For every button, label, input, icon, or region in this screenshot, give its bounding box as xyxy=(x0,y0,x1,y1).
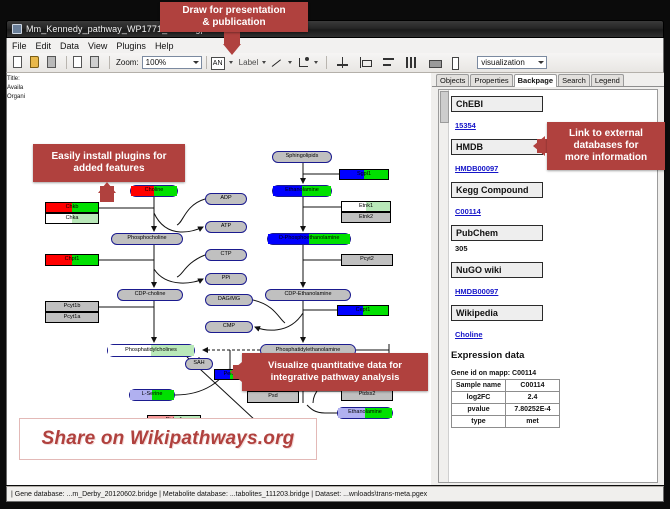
gene-label: Pcyt2 xyxy=(360,257,374,263)
open-folder-icon[interactable] xyxy=(28,55,43,70)
metabolite-node-ppi[interactable]: PPi xyxy=(205,273,247,285)
metabolite-label: Ethanolamine xyxy=(285,188,319,194)
gene-label: Pcyt1b xyxy=(64,304,81,310)
toolbar-separator xyxy=(206,56,207,69)
zoom-label: Zoom: xyxy=(116,58,139,67)
zoom-value: 100% xyxy=(146,58,166,67)
menu-item-data[interactable]: Data xyxy=(60,41,79,51)
gene-label: Chpt1 xyxy=(65,257,80,263)
metabolite-node-l-serine[interactable]: L-Serine xyxy=(129,389,175,401)
db-header-chebi: ChEBI xyxy=(451,96,543,112)
gene-node-pcyt1a[interactable]: Pcyt1a xyxy=(45,312,99,323)
tab-legend[interactable]: Legend xyxy=(591,74,624,86)
menu-item-file[interactable]: File xyxy=(12,41,27,51)
metabolite-node-cmp[interactable]: CMP xyxy=(205,321,253,333)
menu-item-help[interactable]: Help xyxy=(155,41,174,51)
label-tool-label: Label xyxy=(239,58,259,67)
callout-plugins-text: Easily install plugins for added feature… xyxy=(51,151,166,175)
connector-tool-icon[interactable] xyxy=(296,55,311,70)
gene-node-pcyt2[interactable]: Pcyt2 xyxy=(341,254,393,266)
metabolite-node-sah[interactable]: SAH xyxy=(185,358,213,370)
metabolite-label: PPi xyxy=(222,276,231,282)
metabolite-label: O-Phosphoethanolamine xyxy=(279,236,340,242)
export-icon[interactable] xyxy=(450,55,465,70)
db-header-kegg: Kegg Compound xyxy=(451,182,543,198)
expression-row-value: 7.80252E-4 xyxy=(506,404,560,416)
menu-item-edit[interactable]: Edit xyxy=(36,41,52,51)
gene-node-chpt1[interactable]: Chpt1 xyxy=(45,254,99,266)
callout-share-text: Share on Wikipathways.org xyxy=(42,428,295,450)
side-panel-tabs: Objects Properties Backpage Search Legen… xyxy=(432,73,664,87)
gene-label: Sgpl1 xyxy=(357,172,371,178)
gene-node-chka[interactable]: Chka xyxy=(45,213,99,224)
metabolite-label: CMP xyxy=(223,324,235,330)
chevron-down-icon xyxy=(538,61,544,64)
expression-row-value: 2.4 xyxy=(506,392,560,404)
db-header-wikipedia: Wikipedia xyxy=(451,305,543,321)
chevron-down-icon[interactable] xyxy=(314,61,318,64)
metabolite-node-o-phosphoethanolamine[interactable]: O-Phosphoethanolamine xyxy=(267,233,351,245)
db-link-hmdb[interactable]: HMDB00097 xyxy=(455,164,498,173)
expression-row-label: log2FC xyxy=(452,392,506,404)
expression-table-row: Sample nameC00114 xyxy=(452,380,560,392)
menu-item-plugins[interactable]: Plugins xyxy=(116,41,146,51)
paste-icon[interactable] xyxy=(88,55,103,70)
metabolite-label: DAG/MG xyxy=(218,297,240,303)
tab-objects[interactable]: Objects xyxy=(436,74,469,86)
metabolite-label: Phosphocholine xyxy=(127,236,166,242)
metabolite-node-cdp-ethanolamine[interactable]: CDP-Ethanolamine xyxy=(265,289,351,301)
gene-id-on-mapp: Gene id on mapp: C00114 xyxy=(451,370,653,377)
backpage-scrollbar[interactable] xyxy=(439,90,449,482)
callout-draw-stem xyxy=(224,31,240,45)
zoom-combo[interactable]: 100% xyxy=(142,56,202,69)
metabolite-node-phosphatidylcholines[interactable]: Phosphatidylcholines xyxy=(107,344,195,357)
menu-bar: File Edit Data View Plugins Help xyxy=(6,38,664,53)
gene-node-etnk1[interactable]: Etnk1 xyxy=(341,201,391,212)
print-icon[interactable] xyxy=(427,55,442,70)
toolbar-separator xyxy=(326,56,327,69)
pathvisio-app-icon xyxy=(12,24,22,34)
callout-links: Link to external databases for more info… xyxy=(547,122,665,170)
toolbar-separator xyxy=(109,56,110,69)
metabolite-label: L-Serine xyxy=(142,392,163,398)
tab-backpage[interactable]: Backpage xyxy=(514,74,557,87)
expression-row-label: type xyxy=(452,416,506,428)
metabolite-node-ethanolamine[interactable]: Ethanolamine xyxy=(337,407,393,419)
chevron-down-icon[interactable] xyxy=(229,61,233,64)
gene-node-cept1[interactable]: Cept1 xyxy=(337,305,389,316)
db-header-hmdb: HMDB xyxy=(451,139,543,155)
visualization-combo[interactable]: visualization xyxy=(477,56,547,69)
metabolite-node-ethanolamine[interactable]: Ethanolamine xyxy=(272,185,332,197)
callout-links-text: Link to external databases for more info… xyxy=(565,128,647,165)
metabolite-node-phosphocholine[interactable]: Phosphocholine xyxy=(111,233,183,245)
db-link-kegg[interactable]: C00114 xyxy=(455,207,481,216)
gene-node-psd[interactable]: Psd xyxy=(247,391,299,403)
db-value-pubchem: 305 xyxy=(455,244,653,253)
expression-row-value: met xyxy=(506,416,560,428)
expression-row-label: Sample name xyxy=(452,380,506,392)
gene-node-chkb[interactable]: Chkb xyxy=(45,202,99,213)
gene-node-pcyt1b[interactable]: Pcyt1b xyxy=(45,301,99,312)
metabolite-node-choline[interactable]: Choline xyxy=(130,185,178,197)
callout-draw-pointer xyxy=(223,44,241,55)
expression-data-title: Expression data xyxy=(451,350,653,361)
gene-label: Etnk1 xyxy=(359,204,373,210)
application-window: Mm_Kennedy_pathway_WP1771_45176.gpml Fil… xyxy=(0,0,670,509)
db-link-nugo[interactable]: HMDB00097 xyxy=(455,287,498,296)
db-link-wikipedia[interactable]: Choline xyxy=(455,330,483,339)
align-left-icon[interactable] xyxy=(358,55,373,70)
chevron-down-icon[interactable] xyxy=(262,61,266,64)
gene-label: Cept1 xyxy=(356,308,371,314)
chevron-down-icon xyxy=(193,61,199,64)
metabolite-label: Phosphatidylcholines xyxy=(125,348,177,354)
metabolite-label: CDP-Ethanolamine xyxy=(284,292,331,298)
metabolite-label: CDP-choline xyxy=(135,292,166,298)
metabolite-node-ctp[interactable]: CTP xyxy=(205,249,247,261)
metabolite-label: SAH xyxy=(193,361,204,367)
tab-properties[interactable]: Properties xyxy=(470,74,512,86)
metabolite-node-sphingolipids[interactable]: Sphingolipids xyxy=(272,151,332,163)
metabolite-node-dag-mg[interactable]: DAG/MG xyxy=(205,294,253,306)
gene-label: Ptdss2 xyxy=(359,392,376,398)
expression-row-value: C00114 xyxy=(506,380,560,392)
metabolite-label: Ethanolamine xyxy=(348,410,382,416)
callout-visualize: Visualize quantitative data for integrat… xyxy=(242,353,428,391)
text-label-icon[interactable]: AN xyxy=(211,55,226,70)
window-title-bar: Mm_Kennedy_pathway_WP1771_45176.gpml xyxy=(6,20,664,38)
metabolite-label: ADP xyxy=(220,196,231,202)
expression-row-label: pvalue xyxy=(452,404,506,416)
toolbar-separator xyxy=(66,56,67,69)
anchor-icon[interactable] xyxy=(335,55,350,70)
chevron-down-icon[interactable] xyxy=(288,61,292,64)
db-link-chebi[interactable]: 15354 xyxy=(455,121,476,130)
gene-label: Chkb xyxy=(66,205,79,211)
gene-label: Psd xyxy=(268,394,277,400)
callout-visualize-text: Visualize quantitative data for integrat… xyxy=(268,360,402,383)
main-toolbar: Zoom: 100% AN Label visualization xyxy=(6,53,664,73)
metabolite-label: Sphingolipids xyxy=(286,154,319,160)
gene-node-sgpl1[interactable]: Sgpl1 xyxy=(339,169,389,180)
callout-plugins: Easily install plugins for added feature… xyxy=(33,144,185,182)
gene-node-etnk2[interactable]: Etnk2 xyxy=(341,212,391,223)
status-bar: | Gene database: ...m_Derby_20120602.bri… xyxy=(6,486,664,502)
line-tool-icon[interactable] xyxy=(270,55,285,70)
gene-label: Pcyt1a xyxy=(64,315,81,321)
metabolite-node-adp[interactable]: ADP xyxy=(205,193,247,205)
expression-table-row: log2FC2.4 xyxy=(452,392,560,404)
callout-share: Share on Wikipathways.org xyxy=(19,418,317,460)
status-bar-text: | Gene database: ...m_Derby_20120602.bri… xyxy=(11,491,427,498)
save-icon[interactable] xyxy=(45,55,60,70)
pathway-canvas[interactable]: Title: Availa Organi xyxy=(7,73,431,485)
visualization-value: visualization xyxy=(481,58,525,67)
metabolite-label: CTP xyxy=(221,252,232,258)
distribute-columns-icon[interactable] xyxy=(404,55,419,70)
metabolite-node-cdp-choline[interactable]: CDP-choline xyxy=(117,289,183,301)
metabolite-node-atp[interactable]: ATP xyxy=(205,221,247,233)
callout-draw-text: Draw for presentation & publication xyxy=(182,5,285,29)
new-file-icon[interactable] xyxy=(11,55,26,70)
metabolite-label: Choline xyxy=(145,188,164,194)
menu-item-view[interactable]: View xyxy=(88,41,107,51)
expression-table-row: typemet xyxy=(452,416,560,428)
expression-table-row: pvalue7.80252E-4 xyxy=(452,404,560,416)
copy-icon[interactable] xyxy=(71,55,86,70)
callout-draw: Draw for presentation & publication xyxy=(160,2,308,32)
gene-label: Etnk2 xyxy=(359,215,373,221)
db-header-pubchem: PubChem xyxy=(451,225,543,241)
callout-links-pointer xyxy=(533,136,545,156)
expression-table: Sample nameC00114log2FC2.4pvalue7.80252E… xyxy=(451,379,560,428)
callout-visualize-pointer xyxy=(230,362,242,382)
stack-icon[interactable] xyxy=(381,55,396,70)
tab-search[interactable]: Search xyxy=(558,74,590,86)
db-header-nugo: NuGO wiki xyxy=(451,262,543,278)
callout-plugins-pointer xyxy=(98,182,116,193)
metabolite-label: ATP xyxy=(221,224,231,230)
gene-label: Chka xyxy=(66,216,79,222)
